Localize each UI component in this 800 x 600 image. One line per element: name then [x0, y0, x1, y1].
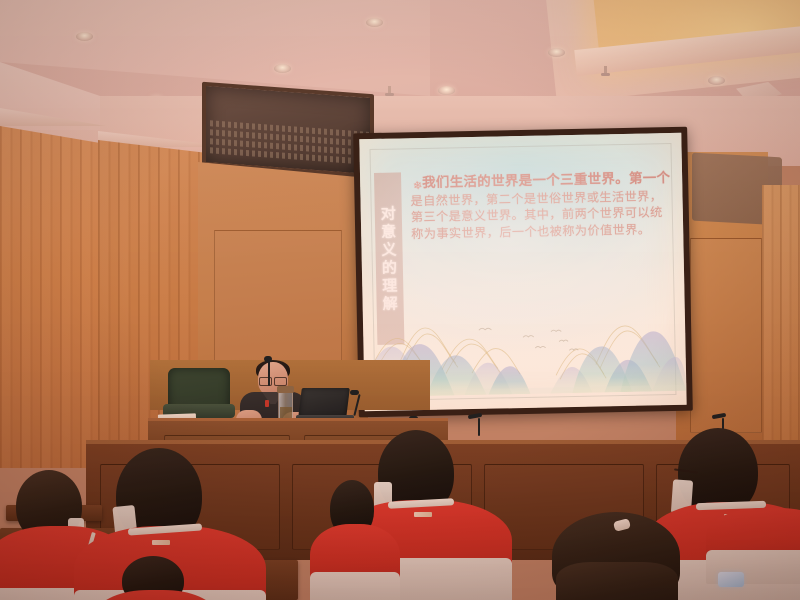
audience-shirt-stripe: [310, 572, 400, 600]
ceiling-downlight-icon: [366, 18, 383, 27]
presenter-badge: [265, 400, 269, 407]
shirt-logo: [414, 512, 432, 517]
sprinkler-icon: [604, 66, 607, 75]
microphone-head: [264, 356, 272, 362]
led-display-panel: [202, 82, 374, 179]
lecture-hall-photo: 对 意 义 的 理 解 ❄ 我们生活的世界是一个三重世界。第一个 是自然世界，第…: [0, 0, 800, 600]
microphone-stem: [268, 360, 270, 386]
ceiling-downlight-icon: [76, 32, 93, 41]
ceiling-downlight-icon: [548, 48, 565, 57]
ceiling-downlight-icon: [274, 64, 291, 73]
wood-slat-panel-right: [762, 185, 800, 460]
led-rows: [210, 120, 374, 168]
microphone-stem: [478, 418, 480, 436]
side-band-char: 意: [381, 224, 396, 239]
side-band-char: 的: [382, 260, 397, 275]
glasses-icon: [259, 377, 287, 384]
microphone-head: [468, 413, 482, 419]
smartphone[interactable]: [718, 572, 744, 587]
ceiling-downlight-icon: [708, 76, 725, 85]
side-band-char: 义: [381, 242, 396, 257]
flying-birds-icon: [363, 315, 686, 361]
audience-hair-fall: [556, 562, 678, 600]
microphone-head: [350, 390, 359, 395]
laptop-screen: [298, 388, 350, 418]
slide-body-text: ❄ 我们生活的世界是一个三重世界。第一个 是自然世界，第二个是世俗世界或生活世界…: [410, 171, 659, 242]
right-column-door-panel: [690, 238, 762, 433]
swallow-icon: ❄: [412, 177, 424, 195]
thermos-cap: [277, 386, 294, 393]
side-band-char: 理: [382, 278, 397, 293]
sprinkler-icon: [388, 86, 391, 95]
ceiling-downlight-icon: [438, 86, 455, 95]
shirt-logo: [152, 540, 170, 545]
side-band-char: 对: [381, 206, 396, 221]
